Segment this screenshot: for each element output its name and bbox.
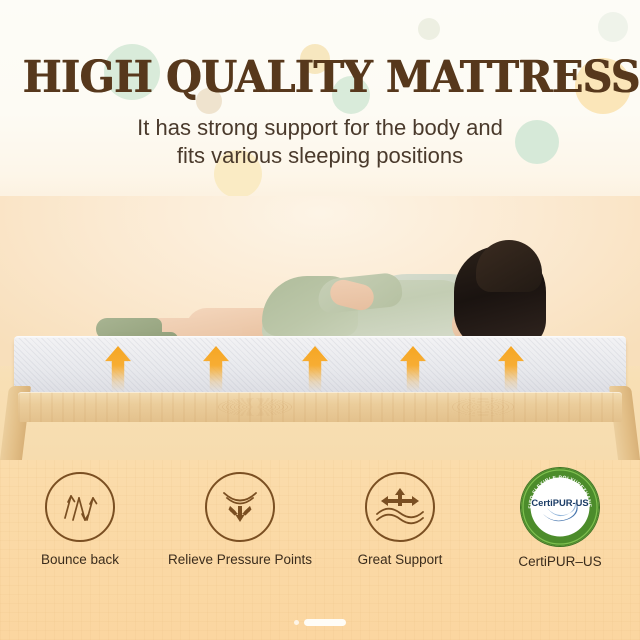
feature-row: Bounce back (0, 468, 640, 598)
carousel-indicator[interactable] (0, 618, 640, 626)
header-section: HIGH QUALITY MATTRESS It has strong supp… (0, 0, 640, 205)
product-image-slide: HIGH QUALITY MATTRESS It has strong supp… (0, 0, 640, 640)
bounce-back-arrows-icon (45, 472, 115, 542)
hair-crown (476, 240, 542, 292)
wood-grain-knot (218, 398, 292, 416)
feature-label: Great Support (320, 552, 480, 568)
feature-label: Bounce back (0, 552, 160, 568)
subtitle-line-2: fits various sleeping positions (0, 142, 640, 170)
feature-label: CertiPUR–US (480, 554, 640, 570)
feature-section: Bounce back (0, 460, 640, 640)
page-title: HIGH QUALITY MATTRESS (22, 52, 617, 103)
feature-item-certipur-us[interactable]: CERTIFIED FLEXIBLE POLYURETHANE FOAM WWW… (480, 468, 640, 570)
svg-text:CertiPUR-US: CertiPUR-US (531, 497, 588, 508)
bed-frame-rail (18, 392, 622, 422)
great-support-wave-icon (365, 472, 435, 542)
carousel-dot-active[interactable] (304, 619, 346, 626)
certipur-us-seal-icon: CERTIFIED FLEXIBLE POLYURETHANE FOAM WWW… (521, 468, 599, 546)
feature-label: Relieve Pressure Points (160, 552, 320, 568)
pale-circle-decoration (418, 18, 440, 40)
feature-item-bounce-back[interactable]: Bounce back (0, 468, 160, 568)
feature-item-relieve-pressure-points[interactable]: Relieve Pressure Points (160, 468, 320, 568)
person-lying-illustration (0, 196, 640, 356)
page-subtitle: It has strong support for the body and f… (0, 114, 640, 170)
feature-item-great-support[interactable]: Great Support (320, 468, 480, 568)
subtitle-line-1: It has strong support for the body and (137, 115, 503, 140)
wood-grain-knot (448, 397, 518, 417)
relieve-pressure-points-icon (205, 472, 275, 542)
carousel-dot[interactable] (294, 620, 299, 625)
product-photo (0, 196, 640, 464)
pale-circle-corner-decoration (598, 12, 628, 42)
